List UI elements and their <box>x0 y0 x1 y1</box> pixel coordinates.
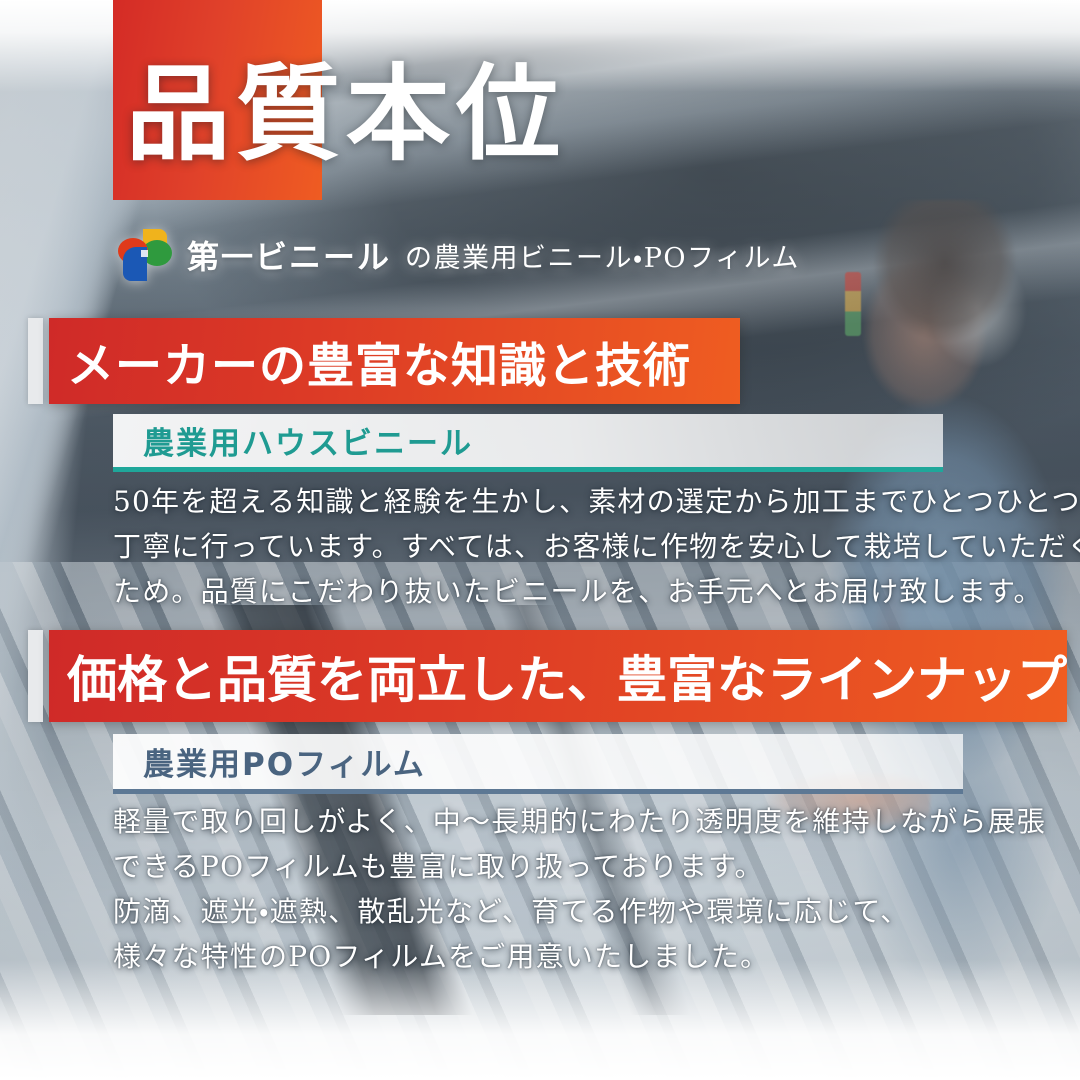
subheading-text: 農業用ハウスビニール <box>113 418 473 463</box>
headline-text: メーカーの豊富な知識と技術 <box>49 327 691 396</box>
page-title: 品質本位 <box>126 62 566 166</box>
brand-row: 第一ビニール の農業用ビニール・POフィルム <box>117 226 800 284</box>
body-line: 50年を超える知識と経験を生かし、素材の選定から加工までひとつひとつ <box>113 479 1080 524</box>
four-petal-pinwheel-logo-icon <box>117 226 173 284</box>
headline-tick-mark <box>28 630 43 722</box>
subheading-text: 農業用POフィルム <box>113 739 426 784</box>
headline-text: 価格と品質を両立した、豊富なラインナップ <box>49 640 1067 712</box>
body-line: 様々な特性のPOフィルムをご用意いたしました。 <box>113 934 1046 979</box>
section-headline-1: メーカーの豊富な知識と技術 <box>28 318 740 404</box>
body-line: できるPOフィルムも豊富に取り扱っております。 <box>113 844 1046 889</box>
brand-tagline: の農業用ビニール・POフィルム <box>405 236 800 275</box>
subheading-po-film: 農業用POフィルム <box>113 734 963 794</box>
headline-tick-mark <box>28 318 43 404</box>
brand-name: 第一ビニール <box>187 232 391 278</box>
section-headline-2: 価格と品質を両立した、豊富なラインナップ <box>28 630 953 722</box>
subheading-house-vinyl: 農業用ハウスビニール <box>113 414 943 472</box>
body-line: 丁寧に行っています。すべては、お客様に作物を安心して栽培していただく <box>113 524 1080 569</box>
body-line: ため。品質にこだわり抜いたビニールを、お手元へとお届け致します。 <box>113 569 1080 614</box>
body-copy-house-vinyl: 50年を超える知識と経験を生かし、素材の選定から加工までひとつひとつ 丁寧に行っ… <box>113 479 1080 614</box>
body-copy-po-film: 軽量で取り回しがよく、中～長期的にわたり透明度を維持しながら展張 できるPOフィ… <box>113 799 1046 979</box>
headline-band: 価格と品質を両立した、豊富なラインナップ <box>49 630 1067 722</box>
headline-band: メーカーの豊富な知識と技術 <box>49 318 740 404</box>
body-line: 軽量で取り回しがよく、中～長期的にわたり透明度を維持しながら展張 <box>113 799 1046 844</box>
promo-banner: 品質本位 第一ビニール の農業用ビニール・POフィルム メーカーの豊富な知識と技… <box>0 0 1080 1080</box>
body-line: 防滴、遮光・遮熱、散乱光など、育てる作物や環境に応じて、 <box>113 889 1046 934</box>
